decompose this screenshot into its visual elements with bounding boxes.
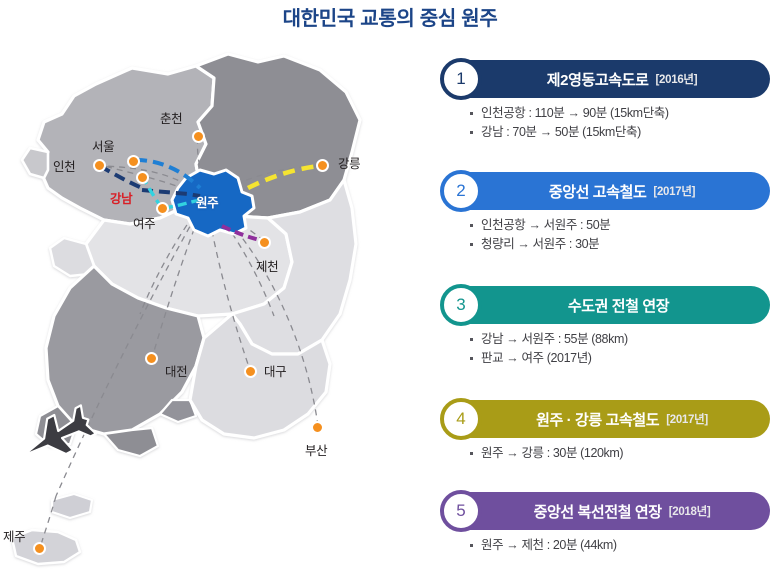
city-label-gangnam: 강남 <box>110 188 132 207</box>
city-dot-yeoju <box>156 202 169 215</box>
bullet: 강남 : 70분 → 50분 (15km단축) <box>470 123 780 142</box>
city-label-daejeon: 대전 <box>165 361 187 380</box>
item-year-2: [2017년] <box>653 183 695 199</box>
city-label-busan: 부산 <box>305 440 327 459</box>
item-bullets-2: 인천공항 → 서원주 : 50분 청량리 → 서원주 : 30분 <box>470 216 780 254</box>
item-badge-4: 4 <box>440 398 482 440</box>
city-dot-gangneung <box>316 159 329 172</box>
bullet: 인천공항 : 110분 → 90분 (15km단축) <box>470 104 780 123</box>
item-bar-2[interactable]: 중앙선 고속철도 [2017년] <box>448 172 770 210</box>
item-title-3: 수도권 전철 연장 <box>542 295 669 316</box>
bullet: 원주 → 강릉 : 30분 (120km) <box>470 444 780 463</box>
page-title: 대한민국 교통의 중심 원주 <box>0 2 780 31</box>
item-number-1: 1 <box>456 69 465 89</box>
bullet: 원주 → 제천 : 20분 (44km) <box>470 536 780 555</box>
city-label-wonju: 원주 <box>196 192 218 211</box>
item-badge-3: 3 <box>440 284 482 326</box>
city-dot-daejeon <box>145 352 158 365</box>
city-label-seoul: 서울 <box>92 136 114 155</box>
item-year-1: [2016년] <box>656 71 698 87</box>
city-dot-busan <box>311 421 324 434</box>
item-bullets-1: 인천공항 : 110분 → 90분 (15km단축) 강남 : 70분 → 50… <box>470 104 780 142</box>
item-number-2: 2 <box>456 181 465 201</box>
city-dot-incheon <box>93 159 106 172</box>
city-label-chuncheon: 춘천 <box>160 108 182 127</box>
city-label-gangneung: 강릉 <box>338 153 360 172</box>
city-label-yeoju: 여주 <box>133 213 155 232</box>
item-badge-5: 5 <box>440 490 482 532</box>
item-title-1: 제2영동고속도로 <box>521 69 649 90</box>
city-dot-jeju <box>33 542 46 555</box>
item-title-5: 중앙선 복선전철 연장 <box>508 501 662 522</box>
city-dot-chuncheon <box>192 130 205 143</box>
city-dot-jecheon <box>258 236 271 249</box>
city-dot-gangnam <box>136 171 149 184</box>
item-bar-4[interactable]: 원주 · 강릉 고속철도 [2017년] <box>448 400 770 438</box>
item-number-5: 5 <box>456 501 465 521</box>
item-bullets-5: 원주 → 제천 : 20분 (44km) <box>470 536 780 555</box>
city-label-jecheon: 제천 <box>256 256 278 275</box>
item-bar-5[interactable]: 중앙선 복선전철 연장 [2018년] <box>448 492 770 530</box>
city-dot-seoul <box>127 155 140 168</box>
city-label-jeju: 제주 <box>3 526 25 545</box>
map-svg <box>0 48 430 569</box>
item-year-5: [2018년] <box>669 503 711 519</box>
item-bullets-4: 원주 → 강릉 : 30분 (120km) <box>470 444 780 463</box>
item-number-3: 3 <box>456 295 465 315</box>
korea-transport-map: 춘천 서울 인천 강남 여주 강릉 제천 대전 대구 부산 제주 원주 <box>0 48 430 569</box>
item-title-2: 중앙선 고속철도 <box>523 181 647 202</box>
transport-project-list: 제2영동고속도로 [2016년] 1 인천공항 : 110분 → 90분 (15… <box>440 60 780 569</box>
city-label-incheon: 인천 <box>53 156 75 175</box>
item-bar-1[interactable]: 제2영동고속도로 [2016년] <box>448 60 770 98</box>
city-dot-daegu <box>244 365 257 378</box>
bullet: 강남 → 서원주 : 55분 (88km) <box>470 330 780 349</box>
item-title-4: 원주 · 강릉 고속철도 <box>510 409 659 430</box>
bullet: 청량리 → 서원주 : 30분 <box>470 235 780 254</box>
item-bar-3[interactable]: 수도권 전철 연장 <box>448 286 770 324</box>
item-number-4: 4 <box>456 409 465 429</box>
bullet: 인천공항 → 서원주 : 50분 <box>470 216 780 235</box>
city-label-daegu: 대구 <box>264 361 286 380</box>
bullet: 판교 → 여주 (2017년) <box>470 349 780 368</box>
map-landmass <box>12 54 360 564</box>
item-badge-2: 2 <box>440 170 482 212</box>
item-year-4: [2017년] <box>666 411 708 427</box>
item-badge-1: 1 <box>440 58 482 100</box>
item-bullets-3: 강남 → 서원주 : 55분 (88km) 판교 → 여주 (2017년) <box>470 330 780 368</box>
